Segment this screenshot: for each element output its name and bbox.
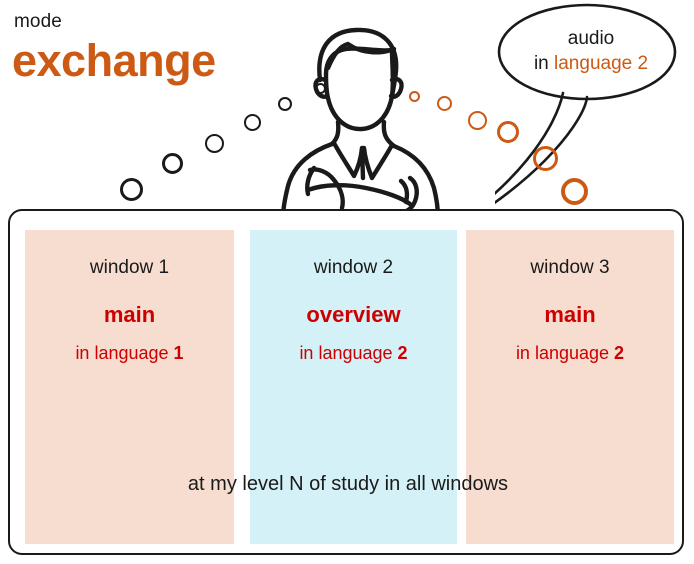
window-column-1[interactable]: window 1 main in language 1 [25,230,234,544]
window-2-title: window 2 [250,257,457,279]
speech-bubble-ellipse [499,5,675,99]
windows-panel: window 1 main in language 1 window 2 ove… [8,209,684,555]
window-column-2[interactable]: window 2 overview in language 2 [250,230,457,544]
thought-dot-right-5 [533,146,558,171]
thought-dot-left-5 [278,97,292,111]
thought-dot-left-3 [205,134,224,153]
window-column-3[interactable]: window 3 main in language 2 [466,230,674,544]
window-3-language-prefix: in language [516,343,614,363]
window-2-kind: overview [250,302,457,328]
mode-label: mode [14,12,62,31]
thought-dot-right-1 [409,91,420,102]
window-1-language-number: 1 [174,343,184,363]
thought-dot-left-1 [120,178,143,201]
window-2-language-prefix: in language [299,343,397,363]
thought-dot-right-2 [437,96,452,111]
thought-dot-left-4 [244,114,261,131]
window-1-title: window 1 [25,257,234,279]
window-1-language: in language 1 [25,343,234,364]
window-1-kind: main [25,302,234,328]
window-3-kind: main [466,302,674,328]
person-illustration [268,18,448,218]
window-2-language: in language 2 [250,343,457,364]
thought-dot-left-2 [162,153,183,174]
window-3-language-number: 2 [614,343,624,363]
window-1-language-prefix: in language [75,343,173,363]
window-2-language-number: 2 [398,343,408,363]
window-3-title: window 3 [466,257,674,279]
thought-dot-right-4 [497,121,519,143]
thought-dot-right-6 [561,178,588,205]
footer-note: at my level N of study in all windows [10,473,686,496]
thought-dot-right-3 [468,111,487,130]
diagram-canvas: mode exchange [0,0,694,564]
mode-value: exchange [12,38,216,83]
thought-dot-left-6 [315,83,326,94]
window-3-language: in language 2 [466,343,674,364]
